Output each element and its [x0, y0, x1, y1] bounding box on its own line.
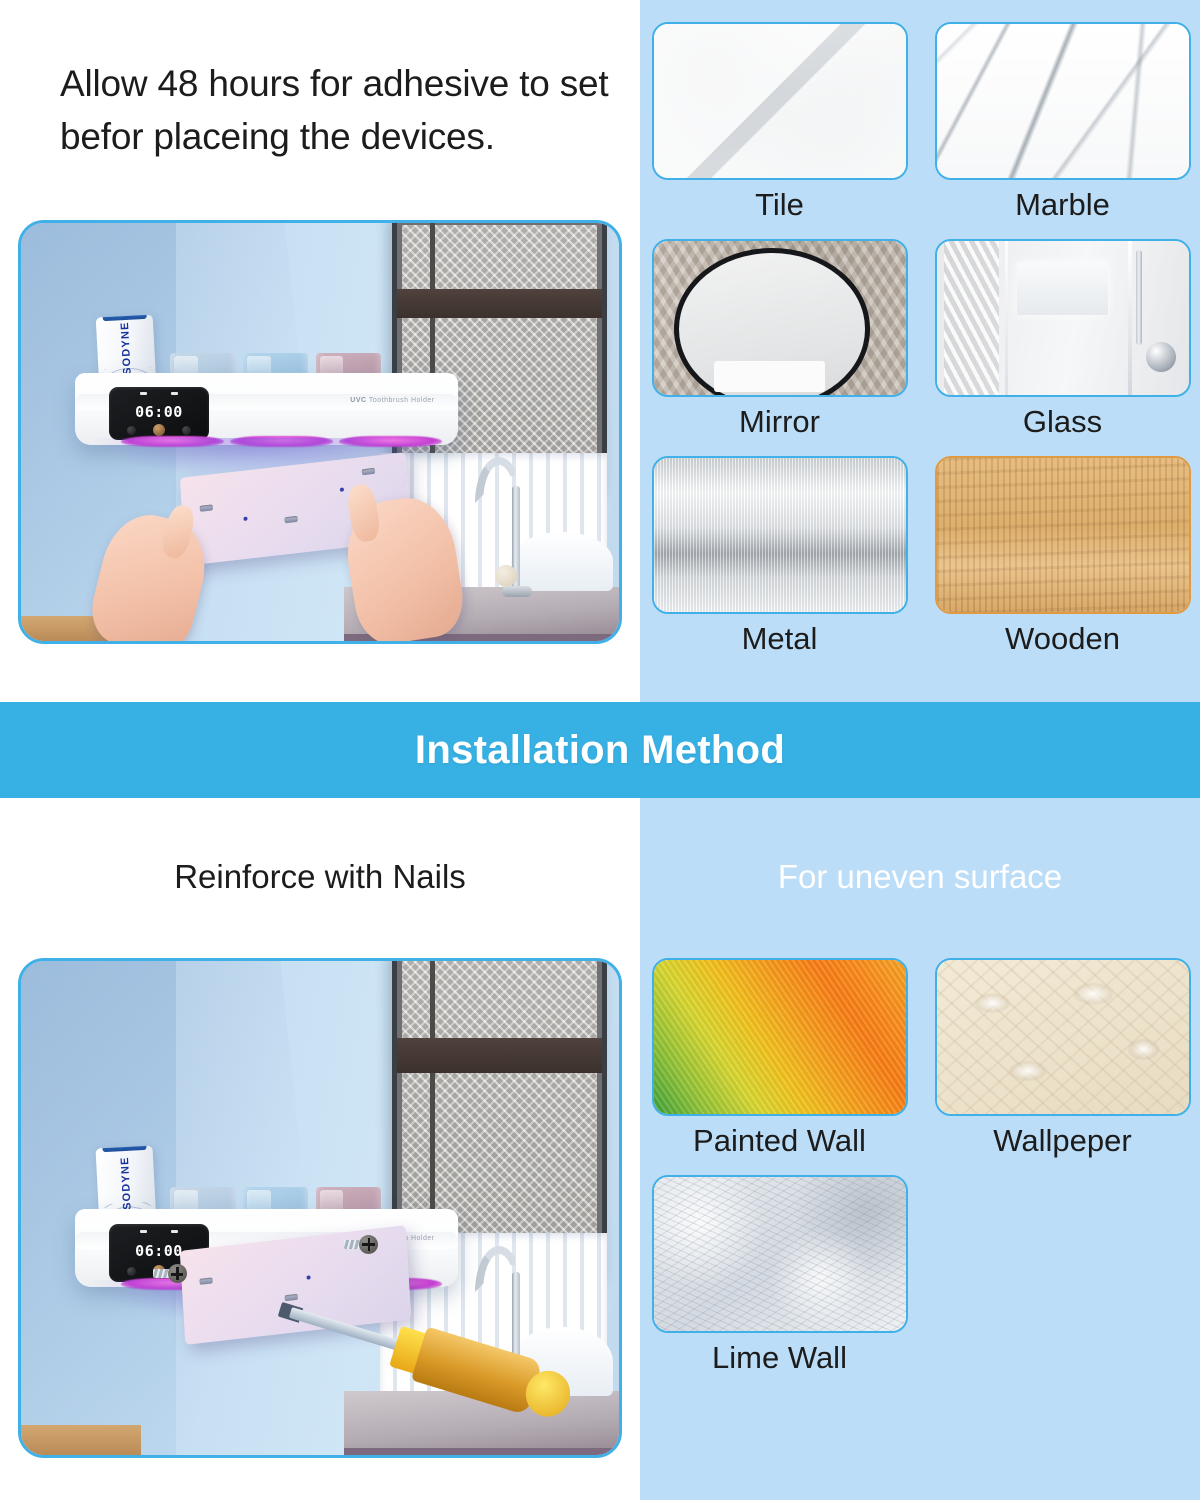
screw-left-head — [168, 1264, 187, 1283]
installation-method-banner: Installation Method — [0, 702, 1200, 798]
uneven-surface-swatch-grid: Painted Wall Wallpeper Lime Wall — [650, 958, 1192, 1382]
glass-texture-image — [935, 239, 1191, 397]
painted-wall-texture-image — [652, 958, 908, 1116]
bathroom-scene-top: ENSODYNE UVC Toothbrush Holder — [21, 223, 619, 641]
surface-swatch-marble[interactable]: Marble — [933, 22, 1192, 229]
surface-swatch-wooden[interactable]: Wooden — [933, 456, 1192, 663]
plate-slot-center — [285, 516, 298, 523]
plate-slot-left — [200, 505, 213, 512]
vanity-reflection — [714, 361, 825, 392]
window-crossbar — [392, 289, 607, 318]
banner-title-text: Installation Method — [0, 702, 1200, 798]
screw-left — [153, 1267, 187, 1280]
uneven-surface-heading: For uneven surface — [640, 858, 1200, 896]
surface-label-marble: Marble — [1015, 186, 1110, 225]
plate-dot-center-2 — [307, 1275, 311, 1279]
surface-label-metal: Metal — [742, 620, 818, 659]
tile-texture — [654, 24, 906, 178]
surface-swatch-metal[interactable]: Metal — [650, 456, 909, 663]
glass-tile-wall — [944, 241, 999, 395]
window-crossbar-2 — [392, 1038, 607, 1073]
mirror-texture — [654, 241, 906, 395]
faucet-knob — [495, 565, 517, 587]
device-brand-text: UVC Toothbrush Holder — [350, 397, 434, 404]
surface-swatch-mirror[interactable]: Mirror — [650, 239, 909, 446]
display-time-value: 06:00 — [109, 403, 209, 421]
marble-texture — [937, 24, 1189, 178]
surface-swatch-tile[interactable]: Tile — [650, 22, 909, 229]
surface-label-wallpaper: Wallpeper — [993, 1122, 1131, 1161]
surface-label-painted-wall: Painted Wall — [693, 1122, 866, 1161]
plate-dot-left — [244, 517, 248, 521]
display-indicator-dots — [109, 392, 209, 399]
lime-wall-texture — [654, 1177, 906, 1331]
bathroom-scene-bottom: ENSODYNE UVC Toothbrush Holder — [21, 961, 619, 1455]
device-model-text: Toothbrush Holder — [369, 397, 435, 404]
wood-texture-image — [935, 456, 1191, 614]
surface-label-lime-wall: Lime Wall — [712, 1339, 847, 1378]
surface-label-tile: Tile — [755, 186, 804, 225]
reinforce-with-nails-heading: Reinforce with Nails — [0, 858, 640, 896]
glass-texture — [937, 241, 1189, 395]
surface-swatch-glass[interactable]: Glass — [933, 239, 1192, 446]
surface-swatch-wallpaper[interactable]: Wallpeper — [933, 958, 1192, 1165]
wood-trim-2 — [18, 1425, 141, 1455]
adhesive-instruction-headline: Allow 48 hours for adhesive to set befor… — [60, 58, 620, 163]
wood-texture — [937, 458, 1189, 612]
infographic-page: Allow 48 hours for adhesive to set befor… — [0, 0, 1200, 1500]
screw-right — [344, 1238, 378, 1251]
glass-bright-pane — [1017, 262, 1108, 314]
surface-swatch-lime-wall[interactable]: Lime Wall — [650, 1175, 909, 1382]
display-indicator-dots-2 — [109, 1230, 209, 1238]
display-button-center — [153, 424, 165, 436]
wallpaper-texture-image — [935, 958, 1191, 1116]
sink-bowl — [511, 532, 613, 591]
display-dot-right-2 — [171, 1230, 178, 1233]
tile-texture-image — [652, 22, 908, 180]
adhesive-mounting-photo: ENSODYNE UVC Toothbrush Holder — [18, 220, 622, 644]
shower-rail — [1136, 250, 1142, 345]
glass-edge-left — [1005, 241, 1008, 395]
device-brand-uvc: UVC — [350, 397, 366, 404]
screw-right-head — [359, 1235, 378, 1254]
mirror-texture-image — [652, 239, 908, 397]
metal-texture — [654, 458, 906, 612]
uvc-toothbrush-holder-device: ENSODYNE UVC Toothbrush Holder — [75, 336, 458, 445]
surface-swatch-painted-wall[interactable]: Painted Wall — [650, 958, 909, 1165]
display-button-left-2 — [127, 1267, 136, 1276]
surface-label-mirror: Mirror — [739, 403, 820, 442]
plate-slot-right — [362, 469, 375, 476]
top-left-panel: Allow 48 hours for adhesive to set befor… — [0, 0, 640, 702]
display-dot-left-2 — [140, 1230, 147, 1233]
smooth-surface-swatch-grid: Tile Marble Mirror — [650, 22, 1192, 662]
screw-reinforcement-photo: ENSODYNE UVC Toothbrush Holder — [18, 958, 622, 1458]
marble-texture-image — [935, 22, 1191, 180]
device-body: UVC Toothbrush Holder 06:00 — [75, 373, 458, 445]
surface-label-glass: Glass — [1023, 403, 1102, 442]
glass-edge-right — [1128, 241, 1132, 395]
metal-texture-image — [652, 456, 908, 614]
display-button-left — [127, 426, 136, 435]
painted-wall-texture — [654, 960, 906, 1114]
display-dot-right — [171, 392, 178, 395]
lime-wall-texture-image — [652, 1175, 908, 1333]
display-dot-left — [140, 392, 147, 395]
device-led-display: 06:00 — [109, 387, 209, 440]
wallpaper-texture — [937, 960, 1189, 1114]
plate-dot-right — [340, 488, 344, 492]
display-button-right — [182, 426, 191, 435]
shower-knob — [1146, 342, 1176, 372]
plate-slot-left-2 — [200, 1277, 213, 1284]
faucet-base — [502, 586, 532, 597]
surface-label-wooden: Wooden — [1005, 620, 1120, 659]
